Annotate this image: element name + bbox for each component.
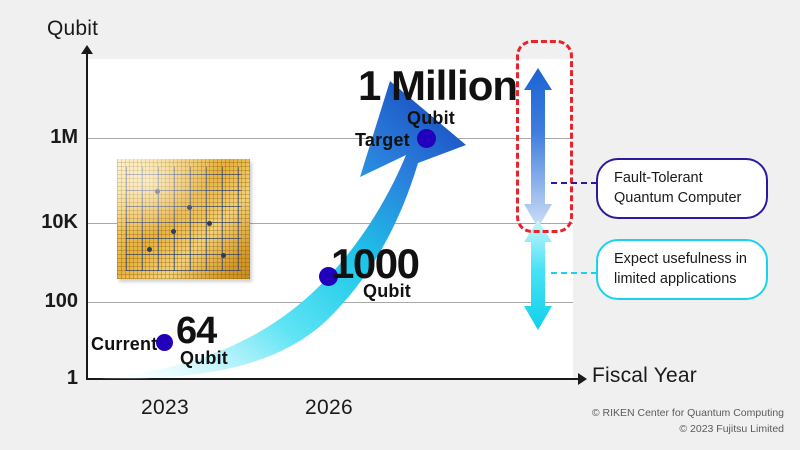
unit-label-1m: Qubit (407, 108, 455, 129)
unit-label-1000: Qubit (363, 281, 411, 302)
current-label: Current (91, 334, 157, 355)
data-point-1-million (417, 129, 436, 148)
value-1-million: 1 Million (358, 62, 517, 110)
y-tick-label-10k: 10K (0, 211, 78, 234)
data-point-64 (156, 334, 173, 351)
connector-line-fault-tolerant (551, 182, 597, 184)
unit-label-64: Qubit (180, 348, 228, 369)
callout-expect-usefulness: Expect usefulness in limited application… (596, 239, 768, 300)
x-tick-label-2023: 2023 (141, 396, 189, 420)
figure-canvas: Qubit Fiscal Year 1M 10K 100 1 2023 2026 (0, 0, 800, 450)
gridline-1m (88, 138, 573, 139)
target-label: Target (355, 130, 410, 151)
quantum-chip-image (117, 159, 250, 279)
y-axis-line (86, 50, 88, 380)
credits: © RIKEN Center for Quantum Computing © 2… (592, 406, 784, 438)
red-dashed-highlight-box (516, 40, 573, 233)
value-64: 64 (176, 310, 216, 353)
connector-line-expect-usefulness (551, 272, 597, 274)
y-tick-label-1: 1 (0, 367, 78, 390)
y-axis-title: Qubit (47, 17, 98, 41)
chip-highlight (117, 159, 250, 279)
x-axis-title: Fiscal Year (592, 364, 697, 388)
x-axis-line (86, 378, 580, 380)
credit-riken: © RIKEN Center for Quantum Computing (592, 406, 784, 422)
y-axis-arrowhead-icon (81, 45, 93, 54)
y-tick-label-1m: 1M (0, 126, 78, 149)
x-tick-label-2026: 2026 (305, 396, 353, 420)
x-axis-arrowhead-icon (578, 373, 587, 385)
gridline-100 (88, 302, 573, 303)
credit-fujitsu: © 2023 Fujitsu Limited (592, 422, 784, 438)
y-tick-label-100: 100 (0, 290, 78, 313)
callout-fault-tolerant-quantum-computer: Fault-Tolerant Quantum Computer (596, 158, 768, 219)
